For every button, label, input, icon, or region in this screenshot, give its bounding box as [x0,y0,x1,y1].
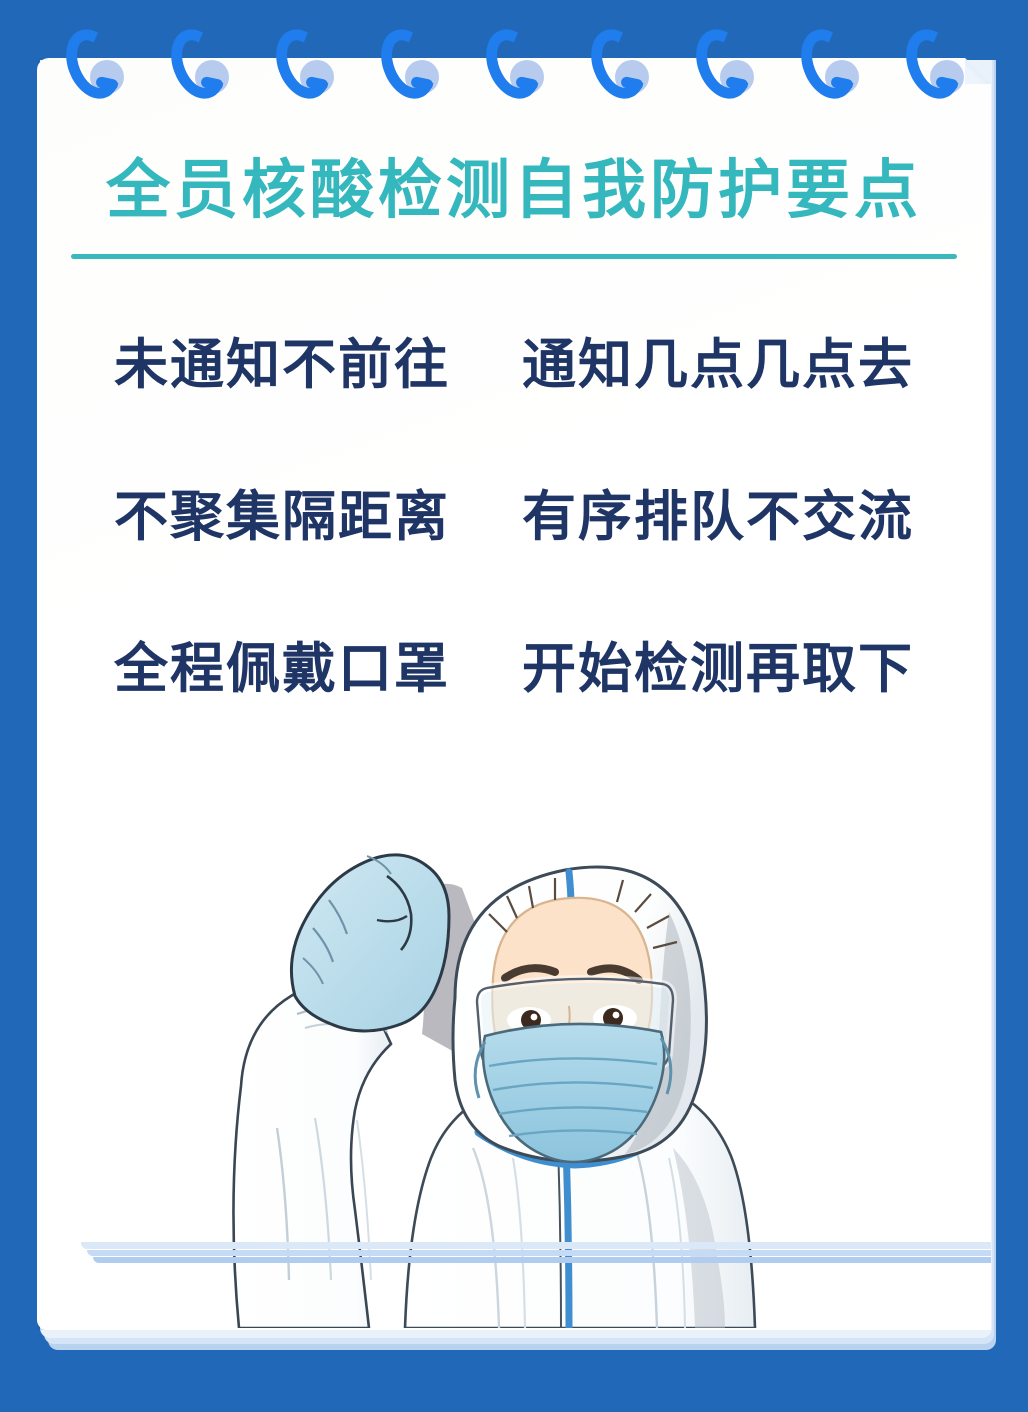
bottom-page-edges [81,1242,991,1268]
title-underline [71,254,957,259]
slogan-2-right: 有序排队不交流 [522,487,914,547]
slogan-row-3: 全程佩戴口罩 开始检测再取下 [37,642,991,696]
slogan-2-left: 不聚集隔距离 [114,487,450,547]
bottom-page-2 [87,1250,991,1256]
page-title: 全员核酸检测自我防护要点 [37,154,991,228]
slogan-3-left: 全程佩戴口罩 [114,639,450,699]
slogan-row-2: 不聚集隔距离 有序排队不交流 [37,490,991,544]
slogan-1-right: 通知几点几点去 [522,335,914,395]
gloved-fist [291,855,449,1031]
slogan-row-1: 未通知不前往 通知几点几点去 [37,338,991,392]
bottom-page-1 [81,1242,991,1249]
slogan-1-left: 未通知不前往 [114,335,450,395]
bottom-page-3 [93,1257,991,1263]
slogan-list: 未通知不前往 通知几点几点去 不聚集隔距离 有序排队不交流 全程佩戴口罩 开始检… [37,338,991,794]
poster-header: 全员核酸检测自我防护要点 [37,154,991,259]
slogan-3-right: 开始检测再取下 [522,639,914,699]
notepad-sheet: 全员核酸检测自我防护要点 未通知不前往 通知几点几点去 不聚集隔距离 有序排队不… [37,58,991,1330]
poster-root: 全员核酸检测自我防护要点 未通知不前往 通知几点几点去 不聚集隔距离 有序排队不… [0,0,1028,1412]
